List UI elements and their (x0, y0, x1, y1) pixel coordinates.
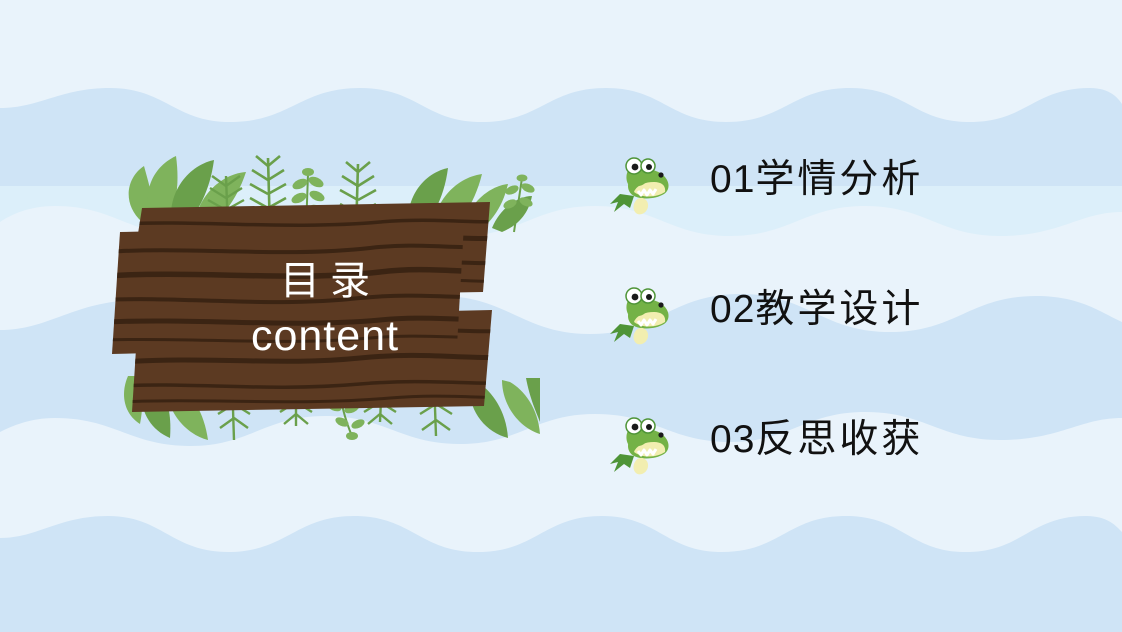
crocodile-icon (608, 272, 674, 348)
agenda-text-3: 反思收获 (755, 418, 923, 461)
slide-canvas: 目录 content 01学情分析 (0, 0, 1122, 632)
agenda-label-2: 02教学设计 (710, 278, 923, 334)
agenda-label-3: 03反思收获 (710, 408, 923, 464)
crocodile-icon (608, 402, 674, 478)
agenda-list: 01学情分析 02教学设计 (608, 140, 1068, 530)
crocodile-icon (608, 142, 674, 218)
agenda-text-1: 学情分析 (755, 158, 923, 201)
agenda-text-2: 教学设计 (755, 288, 923, 331)
agenda-item-3[interactable]: 03反思收获 (608, 400, 1068, 530)
agenda-item-1[interactable]: 01学情分析 (608, 140, 1068, 270)
agenda-item-2[interactable]: 02教学设计 (608, 270, 1068, 400)
agenda-number-2: 02 (710, 288, 755, 331)
agenda-number-1: 01 (710, 158, 755, 201)
content-sign: 目录 content (110, 140, 540, 440)
agenda-number-3: 03 (710, 418, 755, 461)
plank-middle (110, 224, 490, 354)
agenda-label-1: 01学情分析 (710, 148, 923, 204)
wooden-sign-board (110, 140, 540, 440)
